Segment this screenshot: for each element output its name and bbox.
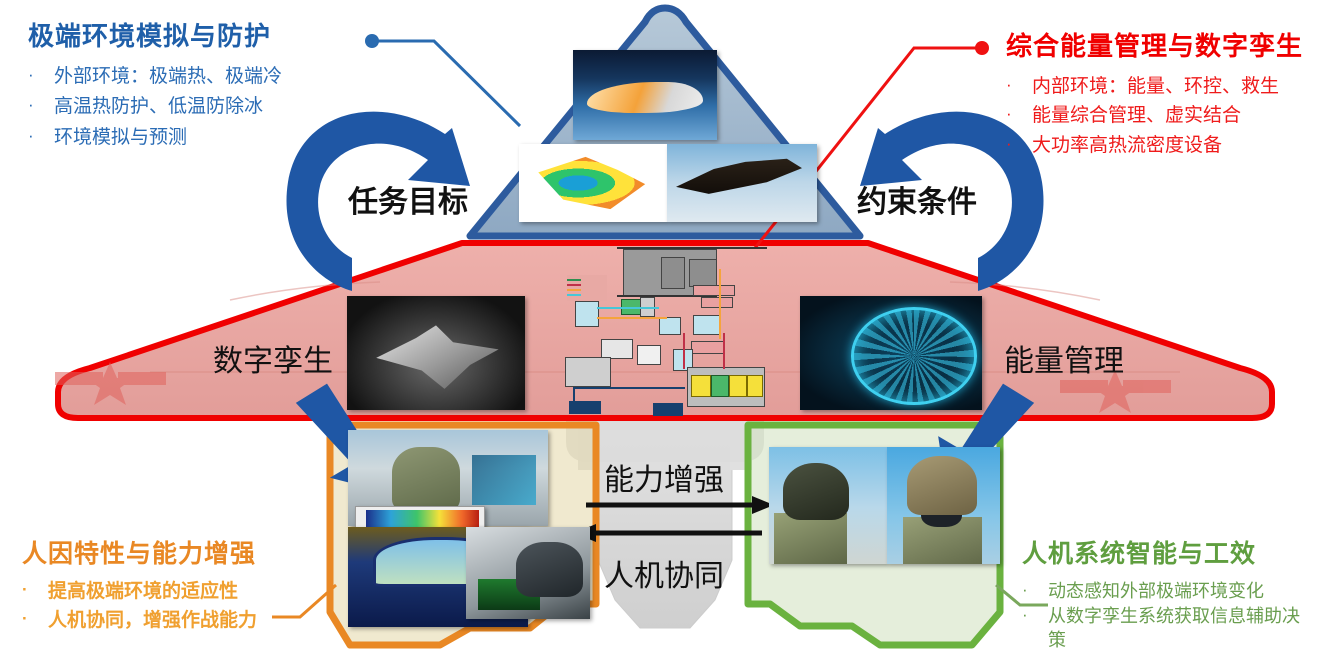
photo-cfd-simulation (519, 144, 667, 222)
label-digital-twin: 数字孪生 (213, 336, 333, 380)
bullet-text: 内部环境：能量、环控、救生 (1032, 74, 1279, 99)
photo-turbine-engine (800, 296, 982, 410)
bullet-marker: · (1022, 579, 1048, 602)
bullet-text: 动态感知外部极端环境变化 (1048, 579, 1264, 603)
list-item: · 内部环境：能量、环控、救生 (1006, 74, 1303, 99)
panel-hmi-text: 人机系统智能与工效 · 动态感知外部极端环境变化 · 从数字孪生系统获取信息辅助… (1022, 534, 1310, 653)
photo-pilot-seated (769, 447, 887, 564)
panel-human-factors-text: 人因特性与能力增强 · 提高极端环境的适应性 · 人机协同，增强作战能力 (22, 534, 257, 638)
bullet-marker: · (28, 125, 54, 148)
bullet-marker: · (22, 608, 48, 631)
label-mission-objective: 任务目标 (348, 177, 468, 221)
panel-title-extreme-environment: 极端环境模拟与防护 (28, 16, 282, 53)
bullet-text: 高温热防护、低温防除冰 (54, 94, 263, 119)
list-item: · 环境模拟与预测 (28, 125, 282, 150)
bullet-marker: · (28, 64, 54, 87)
bullet-text: 能量综合管理、虚实结合 (1032, 103, 1241, 128)
bullet-text: 人机协同，增强作战能力 (48, 608, 257, 633)
list-item: · 大功率高热流密度设备 (1006, 133, 1303, 158)
bullet-list-human-factors: · 提高极端环境的适应性 · 人机协同，增强作战能力 (22, 579, 257, 634)
bullet-list-hmi: · 动态感知外部极端环境变化 · 从数字孪生系统获取信息辅助决策 (1022, 579, 1310, 652)
bullet-text: 大功率高热流密度设备 (1032, 133, 1222, 158)
diagram-canvas: 任务目标 约束条件 数字孪生 能量管理 能力增强 人机协同 极端环境模拟与防护 … (0, 0, 1330, 651)
bullet-text: 环境模拟与预测 (54, 125, 187, 150)
list-item: · 提高极端环境的适应性 (22, 579, 257, 604)
bullet-marker: · (28, 94, 54, 117)
label-human-machine-cooperation: 人机协同 (604, 551, 724, 595)
list-item: · 外部环境：极端热、极端冷 (28, 64, 282, 89)
bullet-text: 从数字孪生系统获取信息辅助决策 (1048, 604, 1310, 652)
photo-reentry-shuttle (573, 50, 717, 140)
label-capability-enhancement: 能力增强 (604, 455, 724, 499)
bullet-marker: · (1006, 74, 1032, 97)
bullet-text: 提高极端环境的适应性 (48, 579, 238, 604)
list-item: · 动态感知外部极端环境变化 (1022, 579, 1310, 603)
energy-management-schematic (565, 245, 770, 425)
panel-integrated-energy: 综合能量管理与数字孪生 · 内部环境：能量、环控、救生 · 能量综合管理、虚实结… (1006, 26, 1303, 162)
list-item: · 高温热防护、低温防除冰 (28, 94, 282, 119)
panel-title-integrated-energy: 综合能量管理与数字孪生 (1006, 26, 1303, 63)
list-item: · 人机协同，增强作战能力 (22, 608, 257, 633)
label-constraint-condition: 约束条件 (857, 177, 977, 221)
photo-helmet-display (466, 527, 590, 619)
panel-title-hmi: 人机系统智能与工效 (1022, 534, 1310, 570)
bullet-marker: · (1006, 133, 1032, 156)
bullet-text: 外部环境：极端热、极端冷 (54, 64, 282, 89)
callout-line-top-left (365, 34, 520, 126)
photo-hypersonic-vehicle (667, 144, 817, 222)
photo-pilot-oxygen-mask (887, 447, 1000, 564)
panel-extreme-environment: 极端环境模拟与防护 · 外部环境：极端热、极端冷 · 高温热防护、低温防除冰 ·… (28, 16, 282, 155)
callout-line-bottom-left (272, 585, 336, 617)
bullet-list-extreme-environment: · 外部环境：极端热、极端冷 · 高温热防护、低温防除冰 · 环境模拟与预测 (28, 64, 282, 150)
list-item: · 能量综合管理、虚实结合 (1006, 103, 1303, 128)
bullet-marker: · (1006, 103, 1032, 126)
label-energy-management: 能量管理 (1004, 336, 1124, 380)
bullet-marker: · (22, 579, 48, 602)
photo-fighter-wireframe (347, 296, 525, 410)
bullet-list-integrated-energy: · 内部环境：能量、环控、救生 · 能量综合管理、虚实结合 · 大功率高热流密度… (1006, 74, 1303, 158)
bullet-marker: · (1022, 604, 1048, 627)
list-item: · 从数字孪生系统获取信息辅助决策 (1022, 604, 1310, 652)
panel-title-human-factors: 人因特性与能力增强 (22, 534, 257, 570)
